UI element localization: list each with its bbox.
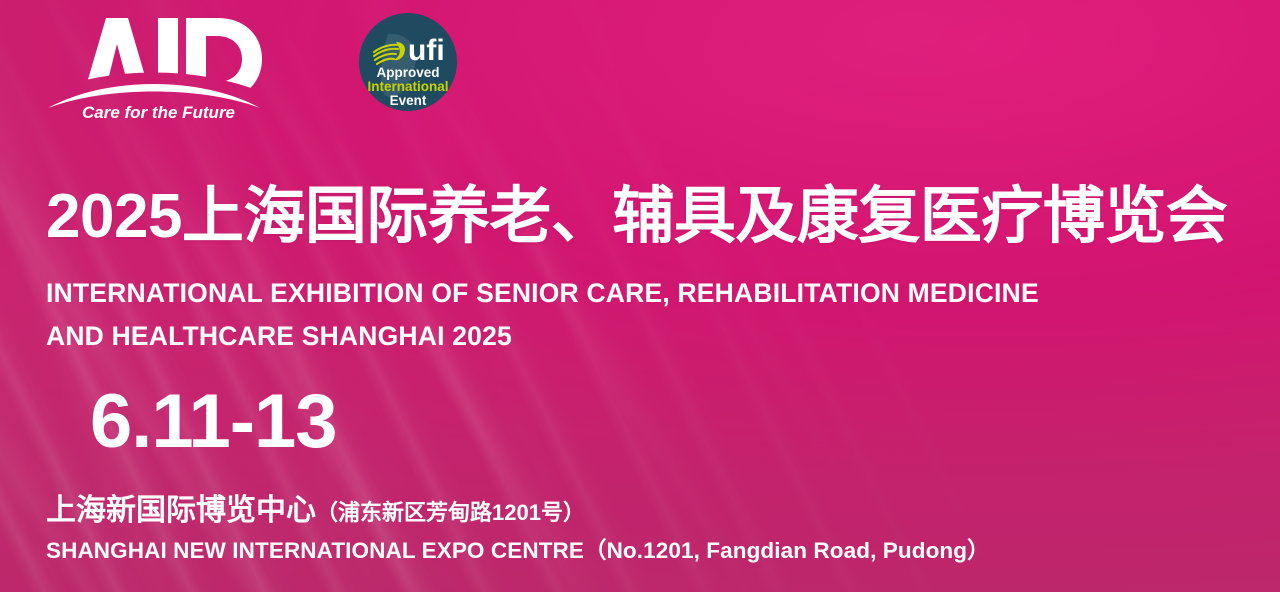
event-title-english-line2: AND HEALTHCARE SHANGHAI 2025 xyxy=(46,319,512,354)
event-venue-chinese: 上海新国际博览中心（浦东新区芳甸路1201号） xyxy=(46,496,585,526)
ufi-approved-text: Approved xyxy=(376,65,439,80)
event-date: 6.11-13 xyxy=(90,384,337,460)
ufi-approved-event-badge: ufi Approved International Event xyxy=(358,12,458,112)
aid-logo: Care for the Future xyxy=(46,14,262,120)
event-banner: Care for the Future ufi Approved Interna… xyxy=(0,0,1280,592)
event-title-english-line1: INTERNATIONAL EXHIBITION OF SENIOR CARE,… xyxy=(46,276,1039,311)
event-venue-english: SHANGHAI NEW INTERNATIONAL EXPO CENTRE（N… xyxy=(46,540,990,563)
ufi-event-text: Event xyxy=(390,93,427,108)
logo-row: Care for the Future ufi Approved Interna… xyxy=(0,0,1280,136)
ufi-international-text: International xyxy=(367,79,448,94)
venue-name-chinese: 上海新国际博览中心 xyxy=(46,494,316,527)
venue-address-chinese: （浦东新区芳甸路1201号） xyxy=(316,500,585,525)
aid-tagline-text: Care for the Future xyxy=(82,103,235,120)
event-title-chinese: 2025上海国际养老、辅具及康复医疗博览会 xyxy=(46,186,1227,248)
ufi-wordmark-text: ufi xyxy=(408,34,445,67)
